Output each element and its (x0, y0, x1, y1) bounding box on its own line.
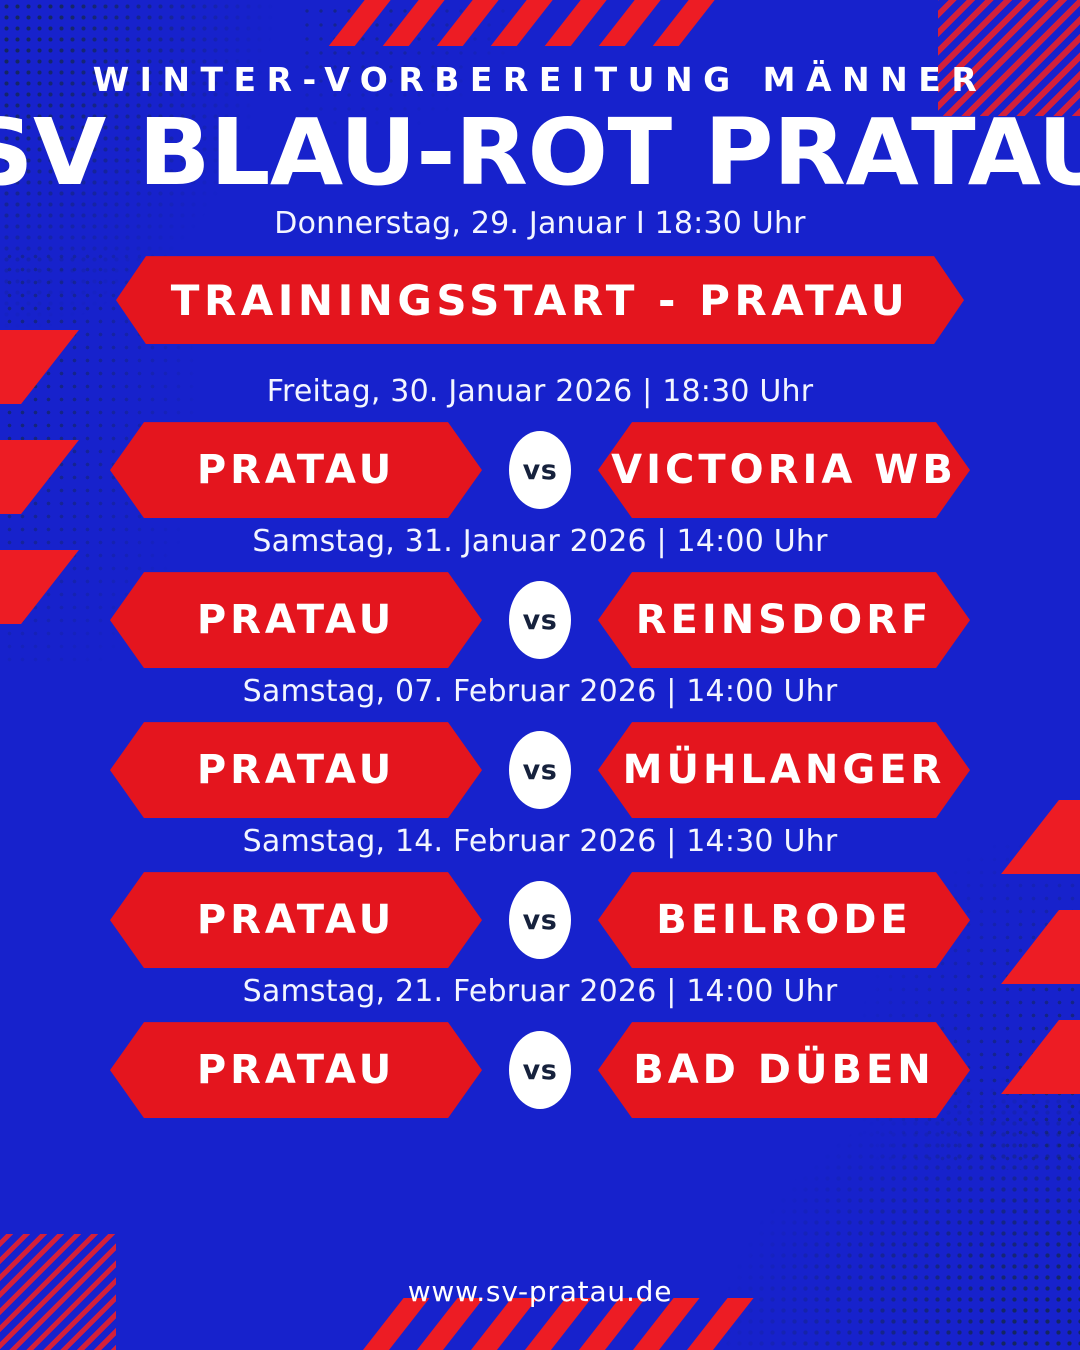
match-date: Samstag, 07. Februar 2026 | 14:00 Uhr (243, 674, 838, 710)
training-banner[interactable]: TRAININGSSTART - PRATAU (116, 256, 964, 344)
away-team-pill[interactable]: BAD DÜBEN (598, 1022, 970, 1118)
match-date: Samstag, 14. Februar 2026 | 14:30 Uhr (243, 824, 838, 860)
home-team-pill[interactable]: PRATAU (110, 722, 482, 818)
footer-website-url[interactable]: www.sv-pratau.de (408, 1275, 673, 1350)
match-date: Samstag, 31. Januar 2026 | 14:00 Uhr (252, 524, 827, 560)
match-date: Samstag, 21. Februar 2026 | 14:00 Uhr (243, 974, 838, 1010)
kicker-subtitle: WINTER-VORBEREITUNG MÄNNER (93, 62, 987, 98)
match-block: Samstag, 31. Januar 2026 | 14:00 Uhr PRA… (60, 524, 1020, 668)
poster-canvas: WINTER-VORBEREITUNG MÄNNER SV BLAU-ROT P… (0, 0, 1080, 1350)
vs-badge: vs (509, 881, 571, 959)
home-team-pill[interactable]: PRATAU (110, 572, 482, 668)
away-team-pill[interactable]: MÜHLANGER (598, 722, 970, 818)
page-title: SV BLAU-ROT PRATAU (0, 106, 1080, 200)
home-team-pill[interactable]: PRATAU (110, 1022, 482, 1118)
away-team-pill[interactable]: REINSDORF (598, 572, 970, 668)
match-date: Freitag, 30. Januar 2026 | 18:30 Uhr (267, 374, 814, 410)
vs-badge: vs (509, 731, 571, 809)
vs-badge: vs (509, 431, 571, 509)
training-row: TRAININGSSTART - PRATAU (60, 256, 1020, 344)
match-row: PRATAU vs MÜHLANGER (110, 722, 970, 818)
match-row: PRATAU vs BAD DÜBEN (110, 1022, 970, 1118)
match-list: Freitag, 30. Januar 2026 | 18:30 Uhr PRA… (60, 374, 1020, 1124)
match-row: PRATAU vs REINSDORF (110, 572, 970, 668)
vs-badge: vs (509, 581, 571, 659)
away-team-pill[interactable]: VICTORIA WB (598, 422, 970, 518)
poster-content: WINTER-VORBEREITUNG MÄNNER SV BLAU-ROT P… (0, 0, 1080, 1350)
match-row: PRATAU vs BEILRODE (110, 872, 970, 968)
match-block: Samstag, 21. Februar 2026 | 14:00 Uhr PR… (60, 974, 1020, 1118)
training-date: Donnerstag, 29. Januar I 18:30 Uhr (274, 206, 805, 242)
home-team-pill[interactable]: PRATAU (110, 872, 482, 968)
match-block: Samstag, 14. Februar 2026 | 14:30 Uhr PR… (60, 824, 1020, 968)
home-team-pill[interactable]: PRATAU (110, 422, 482, 518)
match-block: Freitag, 30. Januar 2026 | 18:30 Uhr PRA… (60, 374, 1020, 518)
match-row: PRATAU vs VICTORIA WB (110, 422, 970, 518)
match-block: Samstag, 07. Februar 2026 | 14:00 Uhr PR… (60, 674, 1020, 818)
vs-badge: vs (509, 1031, 571, 1109)
away-team-pill[interactable]: BEILRODE (598, 872, 970, 968)
